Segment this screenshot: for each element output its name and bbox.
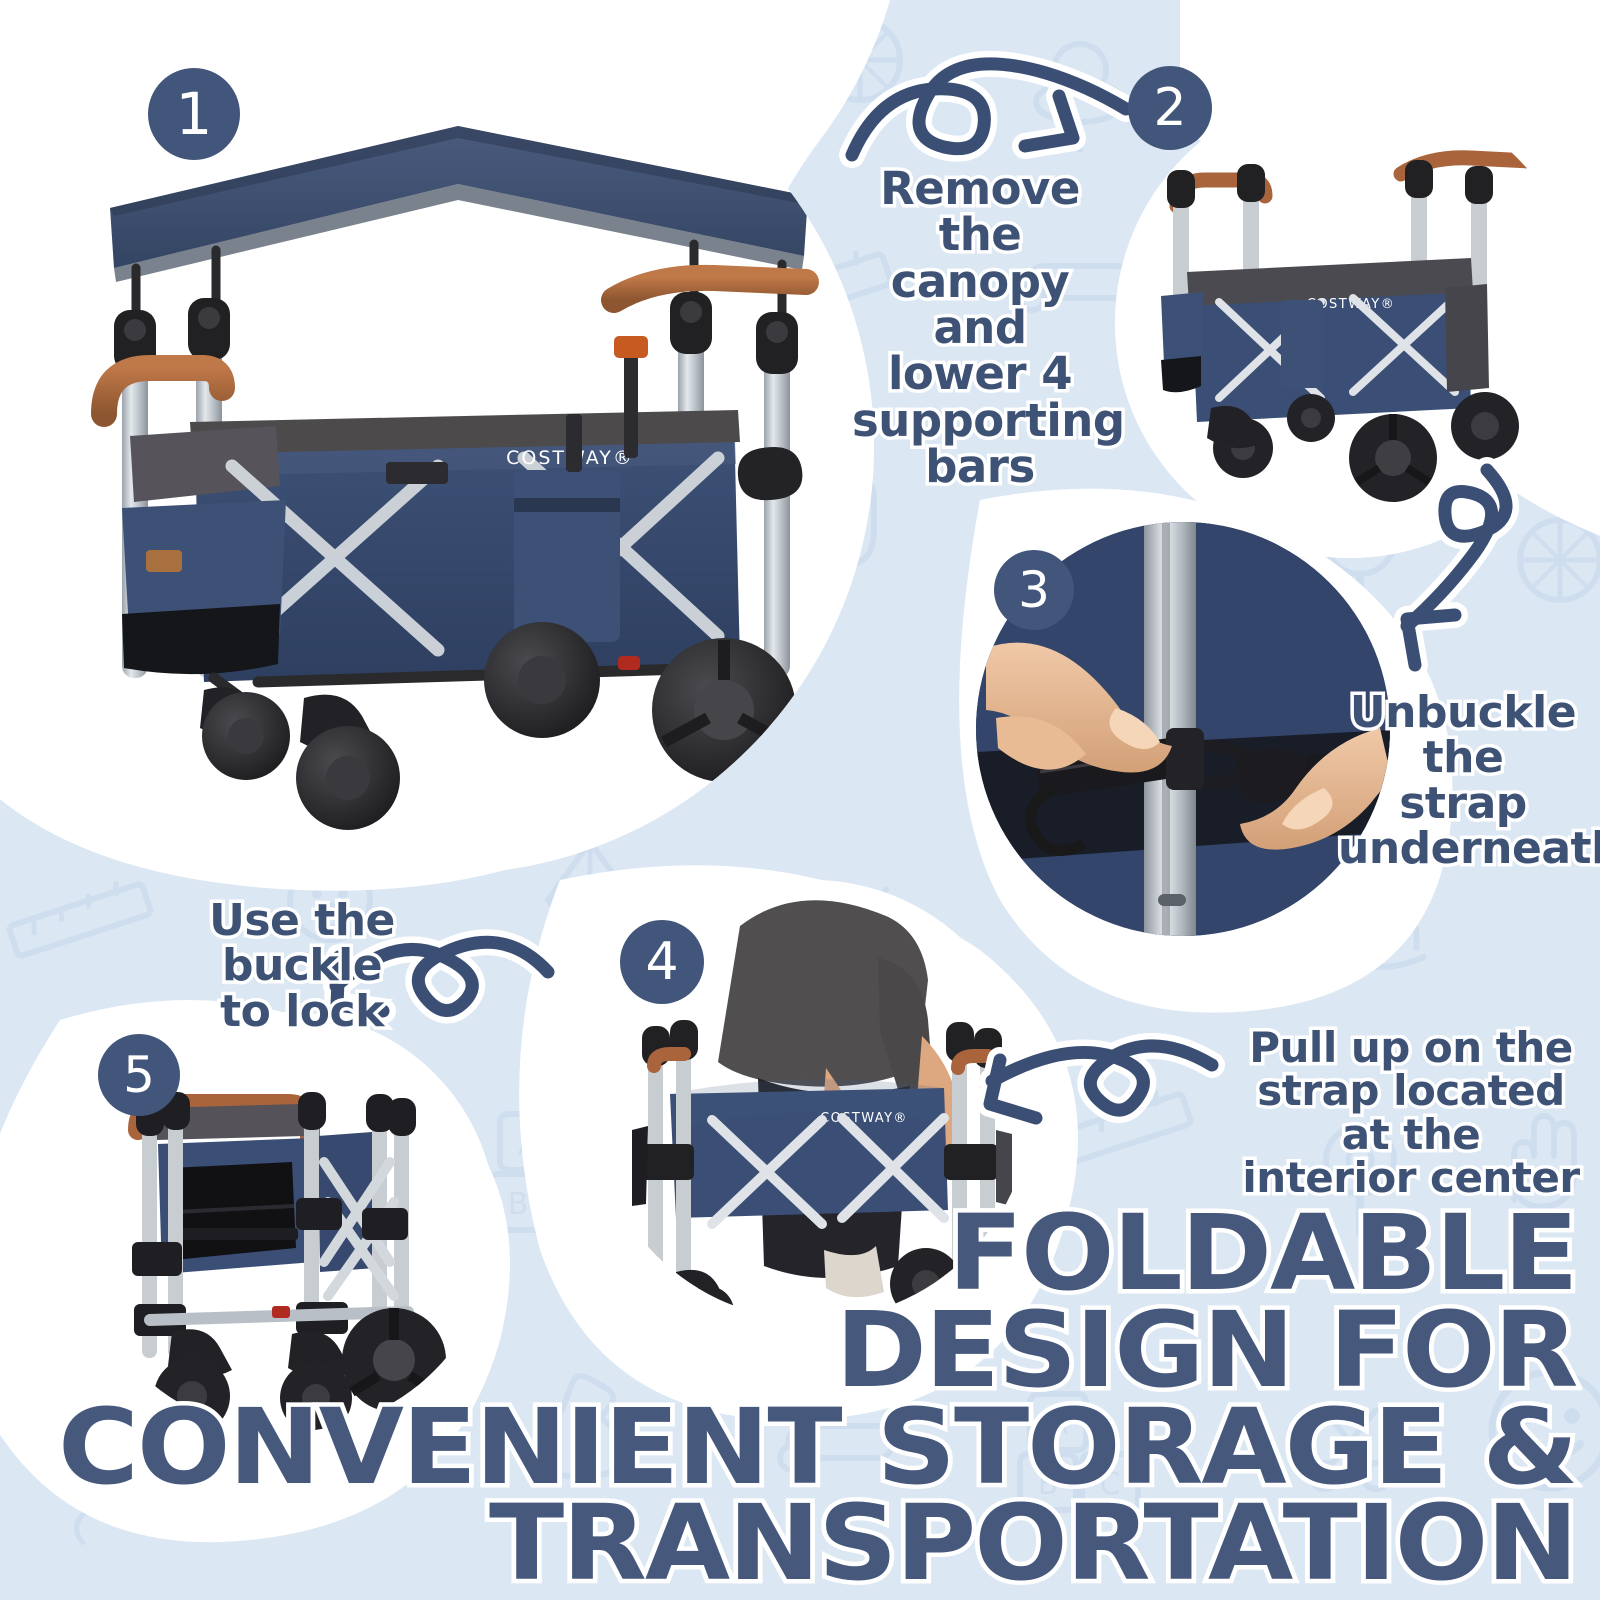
step-badge-3: 3: [994, 550, 1074, 630]
step-badge-4: 4: [620, 920, 704, 1004]
caption-step-4: Pull up on the strap located at the inte…: [1228, 1026, 1594, 1199]
step-1-photo-panel: COSTWAY®: [18, 18, 874, 874]
canopy-brand-text: COSTWAY®: [438, 223, 582, 247]
step-badge-5: 5: [98, 1034, 180, 1116]
caption-step-3: Unbuckle the strap underneath: [1338, 690, 1588, 871]
caption-step-2: Remove the canopy and lower 4 supporting…: [852, 166, 1108, 490]
headline-title: FOLDABLE DESIGN FOR CONVENIENT STORAGE &…: [58, 1205, 1576, 1592]
wagon-canopy-removed-illustration: COSTWAY®: [1115, 88, 1585, 558]
caption-step-5: Use the buckle to lock: [186, 898, 418, 1034]
svg-text:COSTWAY®: COSTWAY®: [820, 1111, 908, 1126]
infographic-canvas: A B C: [0, 0, 1600, 1600]
step-badge-1: 1: [148, 68, 240, 160]
stroller-wagon-with-canopy-illustration: COSTWAY®: [18, 18, 874, 874]
step-badge-2: 2: [1128, 66, 1212, 150]
step-2-photo-panel: COSTWAY®: [1115, 88, 1585, 558]
